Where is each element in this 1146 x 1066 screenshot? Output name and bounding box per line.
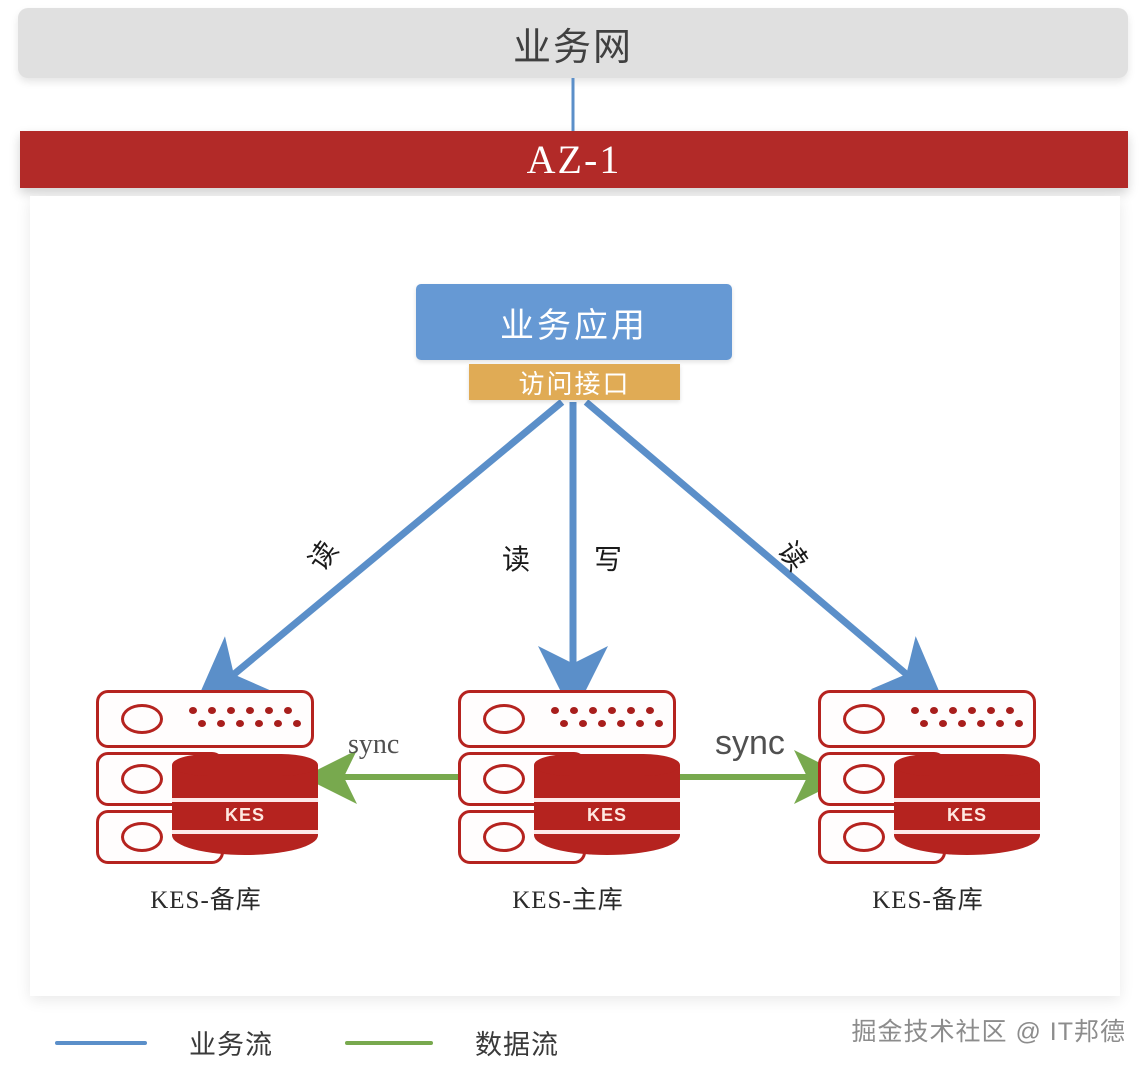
- legend-data-flow-label: 数据流: [475, 1023, 559, 1062]
- diagram-canvas: 业务网 AZ-1 业务应用 访问接口: [0, 0, 1146, 1066]
- access-interface-box[interactable]: 访问接口: [469, 364, 680, 400]
- database-cylinder-icon: KES: [172, 754, 318, 866]
- server-indicator-oval: [121, 764, 163, 794]
- legend-swatch-green: [345, 1041, 433, 1045]
- server-indicator-oval: [483, 822, 525, 852]
- server-indicator-oval: [483, 764, 525, 794]
- server-indicator-oval: [843, 704, 885, 734]
- server-led-grid: [551, 707, 663, 733]
- database-node-standby-left[interactable]: KES KES-备库: [96, 690, 336, 868]
- server-led-grid: [189, 707, 301, 733]
- server-rack: KES: [96, 690, 318, 868]
- database-cylinder-icon: KES: [894, 754, 1040, 866]
- server-slot-top: [818, 690, 1036, 748]
- watermark-text: 掘金技术社区 @ IT邦德: [852, 1012, 1127, 1048]
- network-bar: 业务网: [18, 8, 1128, 78]
- database-cylinder-label: KES: [534, 805, 680, 826]
- business-application-box[interactable]: 业务应用: [416, 284, 732, 360]
- sync-label-left: sync: [348, 729, 399, 761]
- server-slot-top: [96, 690, 314, 748]
- database-cylinder-label: KES: [172, 805, 318, 826]
- server-indicator-oval: [121, 822, 163, 852]
- server-indicator-oval: [843, 764, 885, 794]
- flow-label-read-center: 读: [502, 538, 530, 578]
- database-node-primary[interactable]: KES KES-主库: [458, 690, 698, 868]
- server-rack: KES: [458, 690, 680, 868]
- server-indicator-oval: [843, 822, 885, 852]
- server-indicator-oval: [121, 704, 163, 734]
- server-slot-top: [458, 690, 676, 748]
- availability-zone-label: AZ-1: [527, 136, 622, 183]
- legend-data-flow: 数据流: [345, 1023, 559, 1062]
- network-label: 业务网: [513, 16, 633, 71]
- database-cylinder-label: KES: [894, 805, 1040, 826]
- database-node-standby-right[interactable]: KES KES-备库: [818, 690, 1058, 868]
- database-caption: KES-主库: [448, 880, 688, 916]
- database-caption: KES-备库: [86, 880, 326, 916]
- business-application-label: 业务应用: [500, 298, 648, 347]
- server-rack: KES: [818, 690, 1040, 868]
- flow-label-write-center: 写: [594, 538, 622, 578]
- database-cylinder-icon: KES: [534, 754, 680, 866]
- availability-zone-bar: AZ-1: [20, 131, 1128, 188]
- legend-business-flow: 业务流: [55, 1023, 273, 1062]
- server-led-grid: [911, 707, 1023, 733]
- access-interface-label: 访问接口: [518, 364, 630, 401]
- server-indicator-oval: [483, 704, 525, 734]
- sync-label-right: sync: [715, 724, 785, 763]
- legend-swatch-blue: [55, 1041, 147, 1045]
- database-caption: KES-备库: [808, 880, 1048, 916]
- legend-business-flow-label: 业务流: [189, 1023, 273, 1062]
